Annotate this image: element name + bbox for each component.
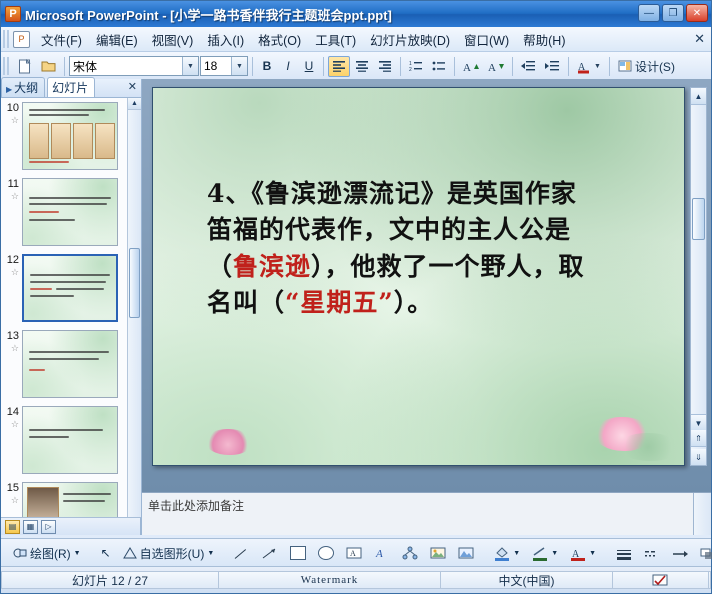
diagram-icon[interactable] [397, 543, 423, 564]
wordart-icon[interactable]: A [369, 543, 395, 564]
slide-line-3: （鲁滨逊），他救了一个野人，取 [207, 249, 656, 285]
bullet-list-button[interactable] [428, 56, 450, 77]
current-slide[interactable]: 4、《鲁滨逊漂流记》是英国作家 笛福的代表作，文中的主人公是 （鲁滨逊），他救了… [152, 87, 685, 466]
chevron-down-icon[interactable]: ▼ [513, 550, 520, 557]
italic-label: I [286, 59, 289, 73]
tab-outline-label: 大纲 [14, 81, 38, 95]
menu-bar: P 文件(F) 编辑(E) 视图(V) 插入(I) 格式(O) 工具(T) 幻灯… [1, 27, 711, 52]
svg-text:A: A [463, 62, 471, 73]
close-pane-icon[interactable]: ✕ [128, 80, 137, 93]
slides-pane: ▶大纲 幻灯片 ✕ 10☆ [1, 79, 142, 535]
slide-sorter-view-button[interactable]: ▦ [23, 520, 38, 534]
arrow-style-icon[interactable] [667, 543, 693, 564]
normal-view-button[interactable]: ▤ [5, 520, 20, 534]
chevron-down-icon[interactable]: ▼ [594, 63, 601, 70]
menu-format[interactable]: 格式(O) [251, 27, 308, 52]
svg-text:A: A [350, 549, 356, 558]
status-bar: 幻灯片 12 / 27 Watermark 中文(中国) [1, 566, 711, 593]
notes-placeholder: 单击此处添加备注 [148, 497, 244, 514]
animation-star-icon: ☆ [3, 268, 19, 278]
menu-edit[interactable]: 编辑(E) [89, 27, 145, 52]
slide-body-text[interactable]: 4、《鲁滨逊漂流记》是英国作家 笛福的代表作，文中的主人公是 （鲁滨逊），他救了… [207, 176, 656, 321]
italic-button[interactable]: I [278, 56, 298, 77]
textbox-icon[interactable]: A [341, 543, 367, 564]
lotus-leaf-icon [618, 433, 678, 461]
powerpoint-window: P Microsoft PowerPoint - [小学一路书香伴我行主题班会p… [0, 0, 712, 594]
slide-thumbnail[interactable] [22, 330, 118, 398]
oval-icon[interactable] [313, 543, 339, 564]
rectangle-icon[interactable] [285, 543, 311, 564]
slide-line-3-highlight: 鲁滨逊 [233, 252, 311, 281]
status-spellcheck[interactable] [613, 571, 709, 589]
triangle-icon: ▶ [6, 85, 12, 94]
slide-line-3-pre: （ [207, 252, 233, 281]
window-title: Microsoft PowerPoint - [小学一路书香伴我行主题班会ppt… [25, 5, 392, 24]
menu-insert[interactable]: 插入(I) [200, 27, 251, 52]
notes-pane[interactable]: 单击此处添加备注 [142, 492, 711, 535]
numbered-list-button[interactable]: 12 [405, 56, 427, 77]
fill-color-button[interactable]: ▼ [489, 543, 525, 564]
status-slide-counter: 幻灯片 12 / 27 [1, 571, 219, 589]
status-language: 中文(中国) [441, 571, 613, 589]
line-style-icon[interactable] [611, 543, 637, 564]
font-size-combo[interactable]: 18 ▼ [200, 56, 248, 76]
thumbnail-list[interactable]: 10☆ 11☆ [1, 98, 141, 535]
window-controls: — ❐ ✕ [638, 4, 708, 22]
chevron-down-icon[interactable]: ▼ [551, 550, 558, 557]
document-icon: P [13, 31, 30, 48]
slide-number: 10 [7, 102, 19, 114]
draw-menu-label: 绘图(R) [30, 545, 71, 562]
clipart-icon[interactable] [425, 543, 451, 564]
menu-file[interactable]: 文件(F) [34, 27, 89, 52]
decrease-indent-button[interactable] [517, 56, 540, 77]
slide-number: 14 [7, 406, 19, 418]
dash-style-icon[interactable] [639, 543, 665, 564]
shadow-style-icon[interactable] [695, 543, 712, 564]
slide-line-4-pre: 名叫（ [207, 288, 285, 317]
chevron-down-icon[interactable]: ▼ [74, 550, 81, 557]
menu-help[interactable]: 帮助(H) [516, 27, 572, 52]
list-item[interactable]: 10☆ [3, 102, 125, 170]
title-bar: P Microsoft PowerPoint - [小学一路书香伴我行主题班会p… [1, 1, 711, 27]
slide-line-4-highlight: “星期五” [285, 288, 394, 317]
pane-tab-strip: ▶大纲 幻灯片 ✕ [1, 79, 141, 98]
menu-tools[interactable]: 工具(T) [308, 27, 363, 52]
font-color-button[interactable]: A ▼ [565, 543, 601, 564]
line-icon[interactable] [229, 543, 255, 564]
underline-label: U [305, 59, 314, 73]
increase-indent-button[interactable] [541, 56, 564, 77]
autoshapes-menu-button[interactable]: 自选图形(U) ▼ [118, 543, 220, 564]
line-color-button[interactable]: ▼ [527, 543, 563, 564]
slide-editor-pane: 4、《鲁滨逊漂流记》是英国作家 笛福的代表作，文中的主人公是 （鲁滨逊），他救了… [142, 79, 711, 535]
list-item[interactable]: 14☆ [3, 406, 125, 474]
close-button[interactable]: ✕ [686, 4, 708, 22]
svg-text:A: A [375, 548, 383, 560]
design-label: 设计(S) [635, 58, 675, 75]
picture-icon[interactable] [453, 543, 479, 564]
work-area: ▶大纲 幻灯片 ✕ 10☆ [1, 79, 711, 535]
slide-line-4: 名叫（“星期五”）。 [207, 285, 656, 321]
animation-star-icon: ☆ [3, 344, 19, 354]
tab-slides-label: 幻灯片 [52, 81, 88, 95]
font-size-value: 18 [204, 59, 217, 73]
slide-number: 13 [7, 330, 19, 342]
scrollbar-thumb[interactable] [692, 198, 705, 240]
open-icon[interactable] [37, 56, 60, 77]
font-name-combo[interactable]: 宋体 ▼ [69, 56, 199, 76]
scroll-up-icon[interactable]: ▲ [128, 98, 141, 110]
increase-font-size-button[interactable]: A [459, 56, 483, 77]
chevron-down-icon[interactable]: ▼ [182, 57, 198, 75]
slide-line-2: 笛福的代表作，文中的主人公是 [207, 212, 656, 248]
toolbar-grip[interactable] [3, 57, 11, 75]
minimize-button[interactable]: — [638, 4, 660, 22]
slide-canvas: 4、《鲁滨逊漂流记》是英国作家 笛福的代表作，文中的主人公是 （鲁滨逊），他救了… [142, 79, 711, 492]
slide-thumbnail[interactable] [22, 102, 118, 170]
chevron-down-icon[interactable]: ▼ [231, 57, 247, 75]
slide-thumbnail[interactable] [22, 178, 118, 246]
formatting-toolbar: 宋体 ▼ 18 ▼ B I U 12 A A [1, 52, 711, 81]
scroll-down-icon[interactable]: ▼ [691, 414, 706, 431]
slide-line-1: 4、《鲁滨逊漂流记》是英国作家 [207, 176, 656, 212]
menu-window[interactable]: 窗口(W) [457, 27, 516, 52]
previous-slide-icon[interactable]: ⇑ [691, 430, 706, 447]
font-name-value: 宋体 [73, 58, 97, 75]
bold-label: B [263, 59, 272, 73]
slide-thumbnail-selected[interactable] [22, 254, 118, 322]
view-buttons-bar: ▤ ▦ ▷ [1, 517, 141, 535]
svg-text:2: 2 [409, 67, 412, 72]
slide-line-4-post: ）。 [394, 288, 434, 317]
new-icon[interactable] [14, 56, 36, 77]
align-center-button[interactable] [351, 56, 373, 77]
menu-slideshow[interactable]: 幻灯片放映(D) [363, 27, 457, 52]
animation-star-icon: ☆ [3, 116, 19, 126]
close-document-icon[interactable]: ✕ [694, 31, 705, 47]
list-item[interactable]: 12☆ [3, 254, 125, 322]
underline-button[interactable]: U [299, 56, 319, 77]
slide-show-view-button[interactable]: ▷ [41, 520, 56, 534]
slide-vertical-scrollbar[interactable]: ▲ ▼ ⇑ ⇓ [690, 87, 707, 466]
animation-star-icon: ☆ [3, 420, 19, 430]
menu-grip[interactable] [3, 30, 11, 48]
status-empty [709, 571, 711, 589]
animation-star-icon: ☆ [3, 496, 19, 506]
next-slide-icon[interactable]: ⇓ [691, 449, 706, 465]
arrow-cursor-glyph: ↖ [101, 546, 111, 560]
bold-button[interactable]: B [257, 56, 277, 77]
tab-slides[interactable]: 幻灯片 [47, 77, 95, 97]
draw-menu-button[interactable]: 绘图(R) ▼ [8, 543, 86, 564]
status-design-template: Watermark [219, 571, 441, 589]
font-color-button[interactable]: A ▼ [573, 56, 605, 77]
powerpoint-icon: P [5, 6, 21, 22]
thumbnail-scrollbar[interactable]: ▲ [127, 98, 141, 535]
lotus-flower-icon [205, 429, 251, 455]
scrollbar-thumb[interactable] [129, 248, 140, 318]
align-right-button[interactable] [374, 56, 396, 77]
slide-number: 11 [8, 178, 19, 190]
animation-star-icon: ☆ [3, 192, 19, 202]
arrow-icon[interactable] [257, 543, 283, 564]
design-button[interactable]: 设计(S) [614, 56, 679, 77]
chevron-down-icon[interactable]: ▼ [207, 550, 214, 557]
svg-text:A: A [488, 62, 496, 73]
select-objects-icon[interactable]: ↖ [96, 543, 116, 564]
list-item[interactable]: 11☆ [3, 178, 125, 246]
chevron-down-icon[interactable]: ▼ [589, 550, 596, 557]
align-left-button[interactable] [328, 56, 350, 77]
scroll-up-icon[interactable]: ▲ [691, 88, 706, 105]
tab-outline[interactable]: ▶大纲 [1, 77, 45, 97]
notes-scrollbar[interactable] [693, 493, 711, 535]
drawing-toolbar: 绘图(R) ▼ ↖ 自选图形(U) ▼ A A [1, 538, 711, 567]
decrease-font-size-button[interactable]: A [484, 56, 508, 77]
autoshapes-label: 自选图形(U) [140, 545, 205, 562]
slide-number: 12 [7, 254, 19, 266]
menu-view[interactable]: 视图(V) [145, 27, 201, 52]
slide-number: 15 [7, 482, 19, 494]
slide-thumbnail[interactable] [22, 406, 118, 474]
list-item[interactable]: 13☆ [3, 330, 125, 398]
restore-button[interactable]: ❐ [662, 4, 684, 22]
slide-line-3-post: ），他救了一个野人，取 [311, 252, 585, 281]
